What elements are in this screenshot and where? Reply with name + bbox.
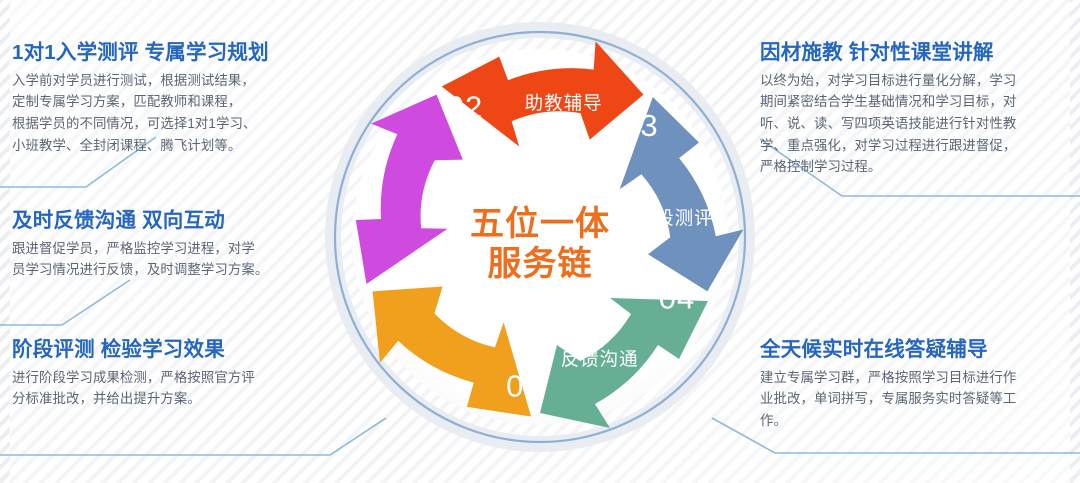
block-heading: 全天候实时在线答疑辅导 (760, 337, 1072, 363)
block-body: 跟进督促学员，严格监控学习进程，对学员学习情况进行反馈，及时调整学习方案。 (12, 238, 324, 281)
segment-number: 03 (622, 108, 658, 143)
block-heading: 及时反馈沟通 双向互动 (12, 208, 324, 234)
segment-label: 助教辅导 (525, 93, 603, 114)
text-block-left-2: 及时反馈沟通 双向互动 跟进督促学员，严格监控学习进程，对学员学习情况进行反馈，… (12, 208, 324, 281)
segment-number: 05 (506, 369, 542, 404)
block-body: 进行阶段学习成果检测，严格按照官方评分标准批改，并给出提升方案。 (12, 367, 324, 410)
text-block-right-2: 全天候实时在线答疑辅导 建立专属学习群，严格按照学习目标进行作业批改，单词拼写，… (760, 337, 1072, 432)
block-body: 以终为始，对学习目标进行量化分解，学习期间紧密结合学生基础情况和学习目标，对听、… (760, 70, 1072, 179)
segment-label: 阶段测评 (636, 208, 714, 229)
text-block-left-1: 1对1入学测评 专属学习规划 入学前对学员进行测试，根据测试结果，定制专属学习方… (12, 40, 324, 156)
text-block-right-1: 因材施教 针对性课堂讲解 以终为始，对学习目标进行量化分解，学习期间紧密结合学生… (760, 40, 1072, 178)
block-body: 建立专属学习群，严格按照学习目标进行作业批改，单词拼写，专属服务实时答疑等工作。 (760, 367, 1072, 432)
block-heading: 因材施教 针对性课堂讲解 (760, 40, 1072, 66)
connector-left-mid (0, 280, 130, 325)
text-block-left-3: 阶段评测 检验学习效果 进行阶段学习成果检测，严格按照官方评分标准批改，并给出提… (12, 337, 324, 410)
center-title-line2: 服务链 (488, 245, 593, 283)
center-title-line1: 五位一体 (470, 205, 610, 243)
segment-label: 反馈沟通 (561, 349, 639, 370)
segment-number: 02 (447, 90, 483, 125)
block-heading: 1对1入学测评 专属学习规划 (12, 40, 324, 66)
block-body: 入学前对学员进行测试，根据测试结果，定制专属学习方案，匹配教师和课程，根据学员的… (12, 70, 324, 157)
segment-number: 04 (659, 281, 695, 316)
block-heading: 阶段评测 检验学习效果 (12, 337, 324, 363)
five-in-one-service-wheel: 01学习规划02课堂讲解03助教辅导04阶段测评05反馈沟通 五位一体 服务链 (325, 22, 755, 452)
